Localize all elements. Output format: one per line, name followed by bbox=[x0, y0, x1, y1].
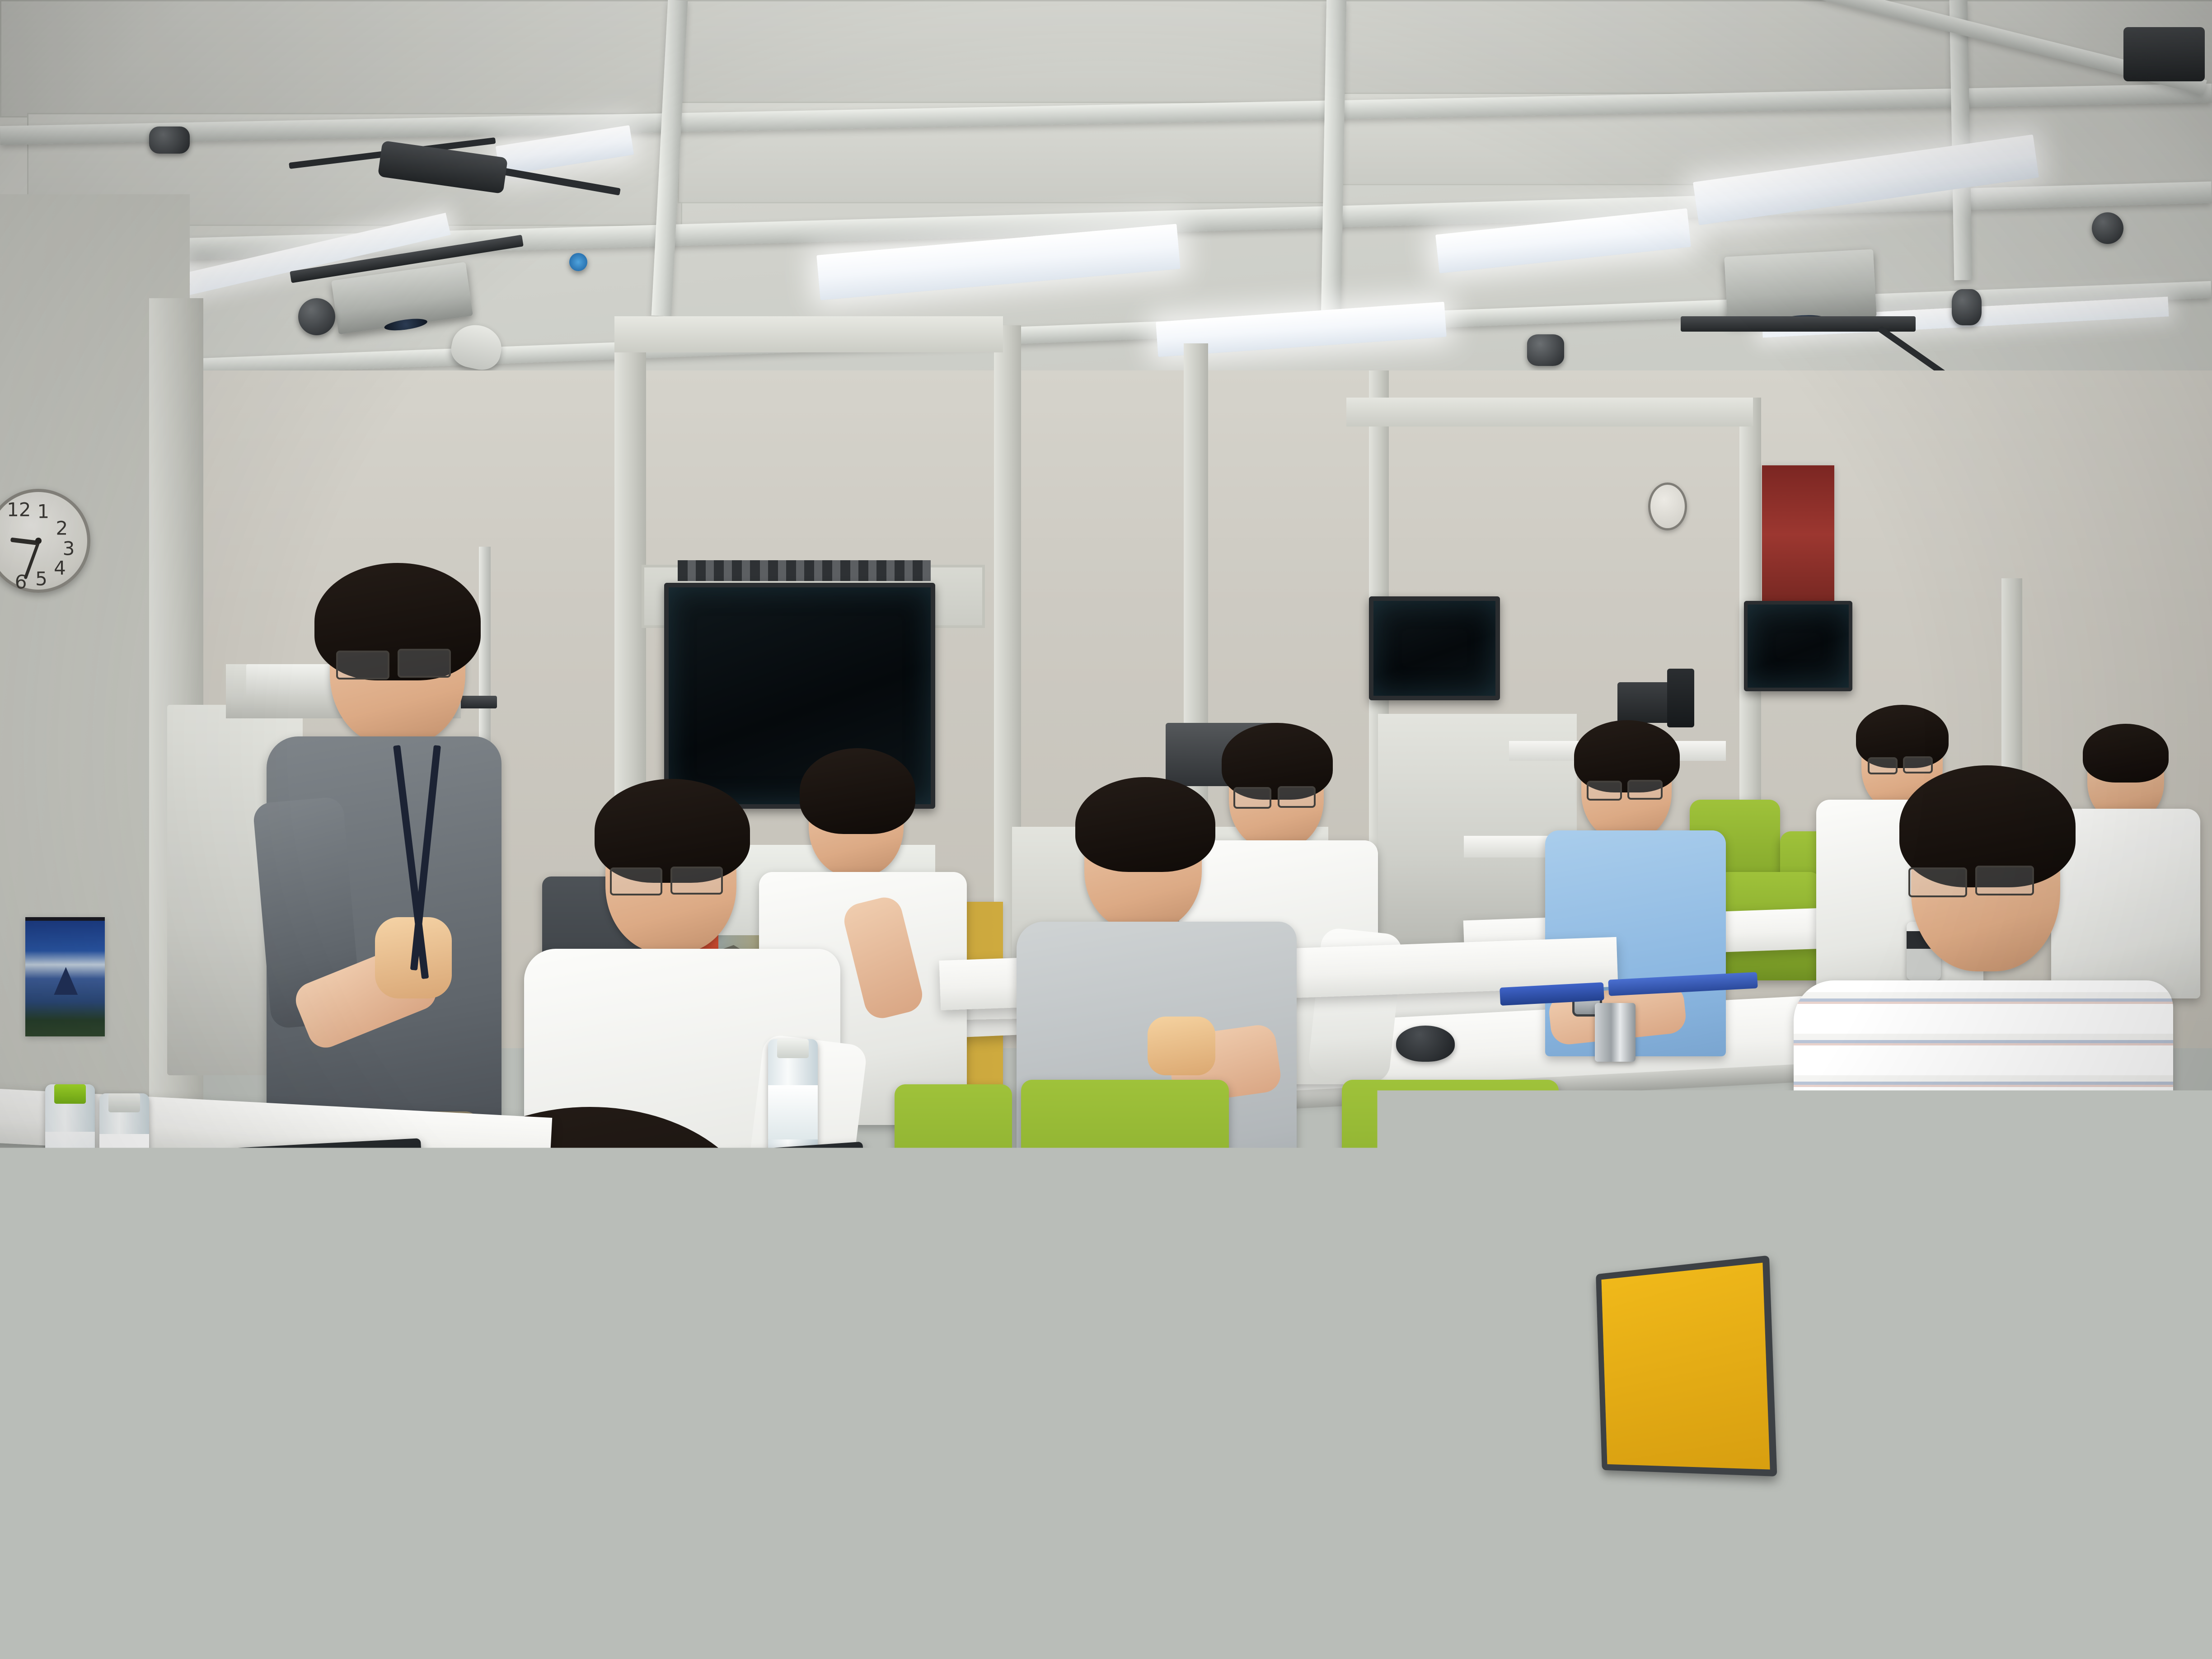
head bbox=[605, 800, 736, 953]
bottle-cap bbox=[777, 1039, 809, 1058]
person-attendee-right bbox=[1807, 791, 1956, 971]
ceiling-tile bbox=[1328, 0, 1961, 95]
head bbox=[1229, 736, 1324, 849]
poster-red bbox=[1762, 465, 1834, 619]
head bbox=[330, 583, 465, 745]
head bbox=[1911, 791, 2060, 971]
wireless-mouse bbox=[1396, 1026, 1455, 1062]
hair bbox=[2083, 724, 2169, 783]
person-foreground-shoulders bbox=[316, 1468, 858, 1659]
background-monitor-2 bbox=[1744, 601, 1852, 691]
small-wall-clock bbox=[1648, 483, 1687, 530]
person-attendee-back-1 bbox=[768, 750, 863, 863]
ceiling-camera-left bbox=[298, 298, 335, 335]
ceiling-tile bbox=[0, 0, 678, 117]
glasses-icon bbox=[1908, 867, 1967, 897]
person-attendee-front-1 bbox=[533, 786, 664, 940]
partition-header bbox=[1346, 398, 1753, 426]
foreground-chair-back bbox=[0, 1411, 238, 1659]
hand bbox=[1148, 1017, 1215, 1075]
hair bbox=[1075, 777, 1215, 872]
head bbox=[1581, 732, 1672, 840]
glasses-icon bbox=[1868, 757, 1898, 774]
ceiling-tile bbox=[669, 0, 1337, 104]
bottle-cap bbox=[108, 1093, 140, 1112]
clock-hour-hand bbox=[10, 537, 39, 545]
clock-numeral: 4 bbox=[54, 557, 66, 579]
clock-numeral: 2 bbox=[56, 517, 68, 539]
table-leg bbox=[235, 1446, 267, 1659]
poster-mountain-peak bbox=[54, 967, 78, 994]
hair bbox=[800, 748, 915, 834]
bottle-label bbox=[357, 1287, 411, 1345]
background-monitor bbox=[1369, 596, 1500, 700]
glasses-icon bbox=[1233, 787, 1271, 809]
clock-numeral: 5 bbox=[35, 568, 47, 590]
silver-can bbox=[1595, 1003, 1636, 1062]
glasses-icon bbox=[1278, 786, 1316, 808]
poster-mountain bbox=[25, 917, 105, 1036]
ceiling-device-box bbox=[2123, 27, 2205, 81]
red-object bbox=[691, 1193, 745, 1233]
partition-header bbox=[614, 316, 1003, 352]
water-bottle-irohas bbox=[45, 1084, 95, 1224]
person-presenter bbox=[271, 574, 407, 776]
macbook-right bbox=[1697, 1362, 1954, 1448]
person-attendee-blue bbox=[1536, 718, 1626, 827]
head bbox=[1084, 795, 1202, 931]
clock-numeral: 3 bbox=[63, 538, 75, 560]
ceiling-projector-right bbox=[1724, 249, 1876, 324]
glasses-icon bbox=[1627, 780, 1663, 800]
seminar-room-photo: 12 1 2 3 4 5 6 AUTUMN bbox=[0, 0, 2212, 1659]
bottle-label bbox=[768, 1085, 818, 1139]
glasses-icon bbox=[1587, 781, 1622, 801]
glasses-icon bbox=[670, 867, 723, 895]
person-attendee-far-2 bbox=[2069, 723, 2146, 813]
glasses-icon bbox=[336, 651, 389, 680]
glasses-icon bbox=[1975, 866, 2034, 895]
glasses-icon bbox=[1903, 756, 1933, 773]
clock-numeral: 12 bbox=[7, 498, 31, 520]
tea-bottle bbox=[99, 1093, 149, 1229]
ceiling-indicator-light bbox=[569, 253, 587, 271]
clock-center-pin bbox=[35, 538, 42, 544]
partition-vent bbox=[678, 560, 931, 581]
person-attendee-far-1 bbox=[1843, 705, 1925, 802]
desk-speaker bbox=[1667, 669, 1694, 727]
laptop-lid-left bbox=[231, 1138, 428, 1302]
bottle-label bbox=[99, 1134, 149, 1196]
ceiling-camera-corner bbox=[2092, 212, 2123, 244]
ceiling-smoke-detector bbox=[149, 127, 190, 154]
clock-numeral: 1 bbox=[37, 501, 49, 523]
bottle-cap bbox=[54, 1084, 86, 1104]
head bbox=[809, 764, 904, 876]
glasses-icon bbox=[398, 649, 451, 678]
glasses-icon bbox=[610, 867, 662, 895]
person-attendee-center bbox=[1021, 786, 1139, 922]
ceiling-camera-right bbox=[1527, 334, 1564, 366]
ceiling-camera-far-right bbox=[1952, 289, 1982, 325]
